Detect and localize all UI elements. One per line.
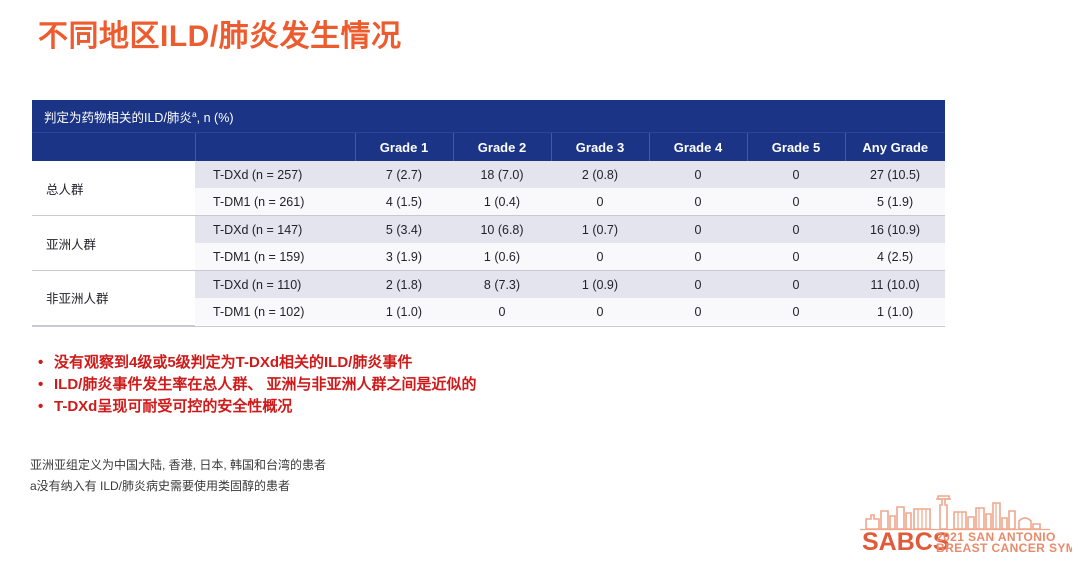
table-bottom-rule <box>32 326 945 327</box>
san-antonio-skyline-icon <box>860 496 1050 530</box>
cell-any-grade: 16 (10.9) <box>845 216 945 244</box>
table-caption: 判定为药物相关的ILD/肺炎a, n (%) <box>32 100 945 133</box>
col-header-grade-5: Grade 5 <box>747 133 845 162</box>
treatment-label: T-DXd (n = 147) <box>195 216 355 244</box>
bullet-text: T-DXd呈现可耐受可控的安全性概况 <box>54 396 292 418</box>
treatment-label: T-DM1 (n = 261) <box>195 188 355 216</box>
col-header-treatment <box>195 133 355 162</box>
treatment-label: T-DXd (n = 110) <box>195 271 355 299</box>
group-label-overall: 总人群 <box>32 161 195 216</box>
cell-grade-1: 3 (1.9) <box>355 243 453 271</box>
key-findings-list: • 没有观察到4级或5级判定为T-DXd相关的ILD/肺炎事件 • ILD/肺炎… <box>38 352 477 418</box>
table-body: 总人群 T-DXd (n = 257) 7 (2.7) 18 (7.0) 2 (… <box>32 161 945 325</box>
treatment-label: T-DM1 (n = 159) <box>195 243 355 271</box>
cell-grade-3: 0 <box>551 298 649 325</box>
cell-grade-2: 10 (6.8) <box>453 216 551 244</box>
table-row: 亚洲人群 T-DXd (n = 147) 5 (3.4) 10 (6.8) 1 … <box>32 216 945 244</box>
cell-grade-5: 0 <box>747 243 845 271</box>
col-header-grade-1: Grade 1 <box>355 133 453 162</box>
bullet-text: ILD/肺炎事件发生率在总人群、 亚洲与非亚洲人群之间是近似的 <box>54 374 477 396</box>
cell-grade-5: 0 <box>747 298 845 325</box>
table-row: 总人群 T-DXd (n = 257) 7 (2.7) 18 (7.0) 2 (… <box>32 161 945 188</box>
cell-grade-5: 0 <box>747 188 845 216</box>
cell-any-grade: 5 (1.9) <box>845 188 945 216</box>
cell-grade-2: 18 (7.0) <box>453 161 551 188</box>
footnote-a: a没有纳入有 ILD/肺炎病史需要使用类固醇的患者 <box>30 476 326 497</box>
ild-table-container: 判定为药物相关的ILD/肺炎a, n (%) Grade 1 Grade 2 G… <box>32 100 945 327</box>
cell-grade-3: 1 (0.7) <box>551 216 649 244</box>
cell-grade-4: 0 <box>649 216 747 244</box>
bullet-marker-icon: • <box>38 396 54 418</box>
cell-grade-4: 0 <box>649 188 747 216</box>
col-header-group <box>32 133 195 162</box>
table-caption-tail: , n (%) <box>197 111 234 125</box>
bullet-marker-icon: • <box>38 374 54 396</box>
page-title: 不同地区ILD/肺炎发生情况 <box>38 11 402 55</box>
table-column-header-row: Grade 1 Grade 2 Grade 3 Grade 4 Grade 5 … <box>32 133 945 162</box>
bullet-text: 没有观察到4级或5级判定为T-DXd相关的ILD/肺炎事件 <box>54 352 412 374</box>
footnote-asian-subgroup: 亚洲亚组定义为中国大陆, 香港, 日本, 韩国和台湾的患者 <box>30 455 326 476</box>
col-header-grade-2: Grade 2 <box>453 133 551 162</box>
cell-grade-3: 0 <box>551 243 649 271</box>
list-item: • ILD/肺炎事件发生率在总人群、 亚洲与非亚洲人群之间是近似的 <box>38 374 477 396</box>
cell-grade-1: 1 (1.0) <box>355 298 453 325</box>
table-caption-text: 判定为药物相关的ILD/肺炎 <box>44 111 192 125</box>
cell-grade-1: 5 (3.4) <box>355 216 453 244</box>
cell-any-grade: 27 (10.5) <box>845 161 945 188</box>
treatment-label: T-DXd (n = 257) <box>195 161 355 188</box>
cell-grade-5: 0 <box>747 161 845 188</box>
group-label-non-asian: 非亚洲人群 <box>32 271 195 326</box>
cell-grade-3: 2 (0.8) <box>551 161 649 188</box>
cell-grade-5: 0 <box>747 271 845 299</box>
ild-pneumonitis-table: 判定为药物相关的ILD/肺炎a, n (%) Grade 1 Grade 2 G… <box>32 100 945 326</box>
cell-grade-1: 7 (2.7) <box>355 161 453 188</box>
col-header-grade-4: Grade 4 <box>649 133 747 162</box>
cell-grade-4: 0 <box>649 161 747 188</box>
cell-any-grade: 11 (10.0) <box>845 271 945 299</box>
cell-grade-1: 4 (1.5) <box>355 188 453 216</box>
sabcs-logo-graphic: SABCS 2021 SAN ANTONIO BREAST CANCER SYM… <box>854 489 1072 555</box>
table-row: 非亚洲人群 T-DXd (n = 110) 2 (1.8) 8 (7.3) 1 … <box>32 271 945 299</box>
sabcs-logo: SABCS 2021 SAN ANTONIO BREAST CANCER SYM… <box>854 489 1072 555</box>
cell-grade-4: 0 <box>649 271 747 299</box>
cell-grade-2: 1 (0.4) <box>453 188 551 216</box>
cell-grade-2: 0 <box>453 298 551 325</box>
cell-any-grade: 4 (2.5) <box>845 243 945 271</box>
group-label-asian: 亚洲人群 <box>32 216 195 271</box>
bullet-marker-icon: • <box>38 352 54 374</box>
cell-grade-3: 1 (0.9) <box>551 271 649 299</box>
cell-grade-3: 0 <box>551 188 649 216</box>
list-item: • T-DXd呈现可耐受可控的安全性概况 <box>38 396 477 418</box>
cell-grade-5: 0 <box>747 216 845 244</box>
footnotes: 亚洲亚组定义为中国大陆, 香港, 日本, 韩国和台湾的患者 a没有纳入有 ILD… <box>30 455 326 497</box>
col-header-grade-3: Grade 3 <box>551 133 649 162</box>
cell-grade-4: 0 <box>649 243 747 271</box>
cell-any-grade: 1 (1.0) <box>845 298 945 325</box>
cell-grade-4: 0 <box>649 298 747 325</box>
treatment-label: T-DM1 (n = 102) <box>195 298 355 325</box>
cell-grade-2: 1 (0.6) <box>453 243 551 271</box>
col-header-any-grade: Any Grade <box>845 133 945 162</box>
table-header: 判定为药物相关的ILD/肺炎a, n (%) Grade 1 Grade 2 G… <box>32 100 945 161</box>
table-header-band-row: 判定为药物相关的ILD/肺炎a, n (%) <box>32 100 945 133</box>
cell-grade-2: 8 (7.3) <box>453 271 551 299</box>
cell-grade-1: 2 (1.8) <box>355 271 453 299</box>
list-item: • 没有观察到4级或5级判定为T-DXd相关的ILD/肺炎事件 <box>38 352 477 374</box>
sabcs-subtitle-line2: BREAST CANCER SYMPOSIUM <box>936 541 1072 555</box>
